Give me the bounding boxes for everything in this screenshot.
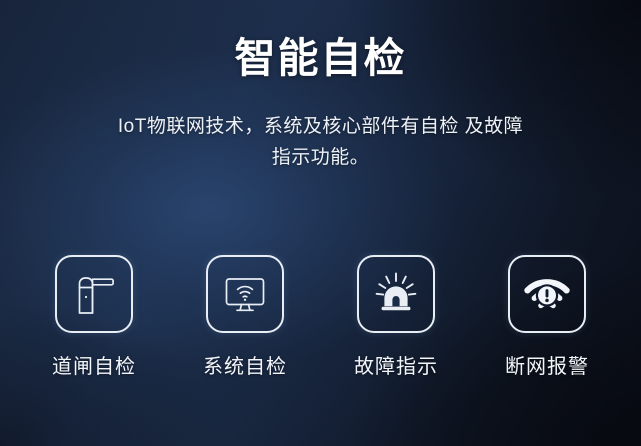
subtitle: IoT物联网技术，系统及核心部件有自检 及故障指示功能。 [0,112,641,174]
page-title: 智能自检 [0,34,641,82]
feature-label-network: 断网报警 [505,350,589,379]
wifi-warning-icon [519,266,575,322]
feature-item-fault[interactable]: 故障指示 [336,255,456,379]
alarm-beacon-icon [368,266,424,322]
feature-list: 道闸自检 [34,255,607,379]
icon-card-system[interactable] [206,255,284,333]
feature-item-barrier[interactable]: 道闸自检 [34,255,154,379]
icon-card-network[interactable] [508,255,586,333]
icon-card-fault[interactable] [357,255,435,333]
monitor-wifi-icon [217,266,273,322]
feature-item-network[interactable]: 断网报警 [487,255,607,379]
icon-card-barrier[interactable] [55,255,133,333]
feature-label-fault: 故障指示 [354,350,438,379]
barrier-gate-icon [66,266,122,322]
feature-item-system[interactable]: 系统自检 [185,255,305,379]
feature-slide: 智能自检 IoT物联网技术，系统及核心部件有自检 及故障指示功能。 [0,0,641,446]
subtitle-line-1: IoT物联网技术，系统及核心部件有自检 [118,116,459,137]
feature-label-system: 系统自检 [203,350,287,379]
feature-label-barrier: 道闸自检 [52,350,136,379]
